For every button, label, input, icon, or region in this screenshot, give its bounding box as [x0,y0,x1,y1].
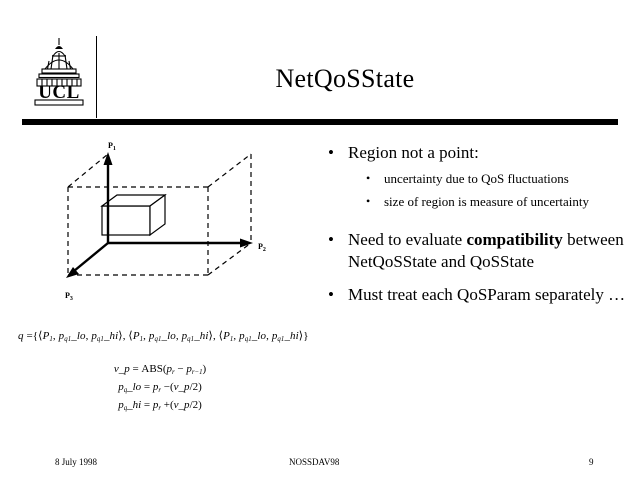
ucl-dome-logo: UCL [28,36,90,108]
ucl-wordmark: UCL [38,82,80,103]
bullet-must-treat-each-qosparam: • Must treat each QoSParam separately … [322,284,628,306]
bullet-group-need: • Need to evaluate compatibility between… [322,229,628,273]
footer-page-number: 9 [589,452,594,472]
qos-region-box [102,195,165,235]
axis-label-p2: P2 [258,243,266,252]
bullet-dot-icon: • [366,170,370,187]
bullet-group-must: • Must treat each QoSParam separately … [322,284,628,306]
bullet-group-region: • Region not a point: • uncertainty due … [322,142,628,210]
footer-conference: NOSSDAV98 [289,452,339,472]
bullet-dot-icon: • [328,284,334,306]
bullet-dot-icon: • [328,142,334,164]
bullet-text: Must treat each QoSParam separately … [348,285,625,304]
slide-footer: 8 July 1998 NOSSDAV98 9 [0,452,640,472]
slide-canvas: { "slide": { "title": "NetQoSState", "lo… [0,0,640,480]
qos-region-3d-diagram: P1 P2 P3 [55,140,285,315]
equation-block: v_p = ABS(pr − pr−1) pq_lo = pr −(v_p/2)… [0,361,320,415]
bullet-dot-icon: • [366,193,370,210]
bullet-size-of-region: • size of region is measure of uncertain… [322,193,628,210]
bullet-region-not-a-point: • Region not a point: [322,142,628,164]
bullet-uncertainty-qos-fluctuations: • uncertainty due to QoS fluctuations [322,170,628,187]
bullet-text-emphasis: compatibility [466,230,562,249]
bullet-list: • Region not a point: • uncertainty due … [322,142,628,309]
page-title: NetQoSState [110,64,580,94]
bullet-need-to-evaluate-compatibility: • Need to evaluate compatibility between… [322,229,628,273]
bullet-text-before-bold: Need to evaluate [348,230,466,249]
bullet-text: uncertainty due to QoS fluctuations [384,171,569,186]
axis-label-p3: P3 [65,292,73,301]
footer-date: 8 July 1998 [55,452,97,472]
equation-q-definition: q ={⟨P1, pq1_lo, pq1_hi⟩, ⟨P1, pq1_lo, p… [18,329,309,342]
ucl-logo-svg: UCL [28,36,90,108]
equation-pq-lo: pq_lo = pr −(v_p/2) [0,379,320,397]
bullet-dot-icon: • [328,229,334,251]
bullet-text: size of region is measure of uncertainty [384,194,589,209]
bullet-text: Region not a point: [348,143,479,162]
title-rule [22,119,618,125]
equation-pq-hi: pq_hi = pr +(v_p/2) [0,397,320,415]
qos-region-3d-svg [55,140,285,315]
logo-divider [96,36,97,118]
axis-label-p1: P1 [108,142,116,151]
equation-v-p: v_p = ABS(pr − pr−1) [0,361,320,379]
